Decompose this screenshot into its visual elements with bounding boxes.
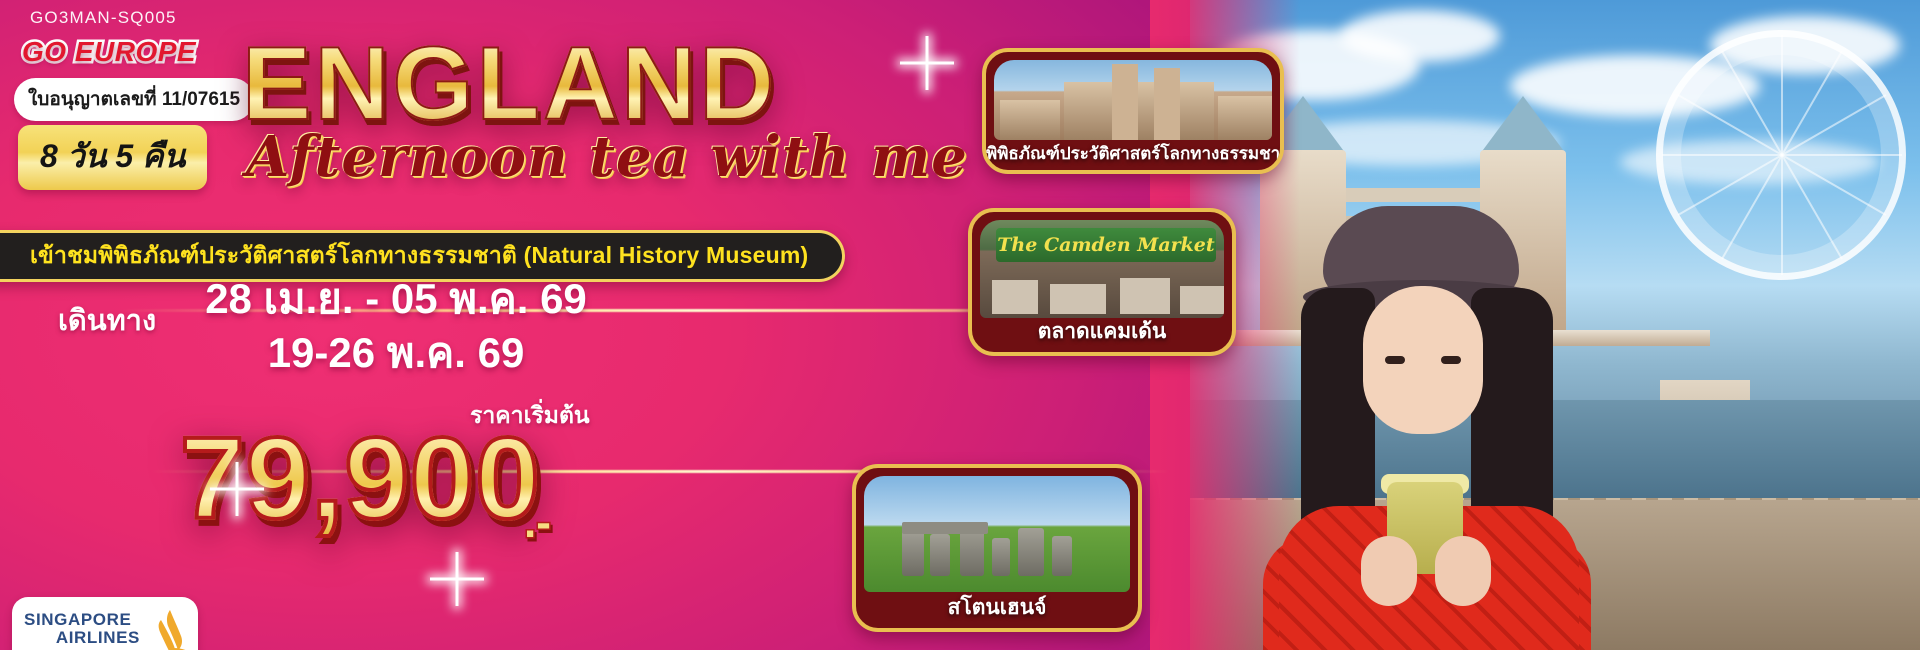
camden-sign-text: The Camden Market	[996, 228, 1216, 262]
london-eye-icon	[1656, 30, 1906, 280]
attraction-card-camden[interactable]: The Camden Market ตลาดแคมเด้น	[968, 208, 1236, 356]
hand	[1435, 536, 1491, 606]
airline-logo-text: SINGAPORE AIRLINES	[24, 611, 140, 650]
travel-label: เดินทาง	[58, 297, 156, 343]
sparkle-icon	[430, 552, 484, 606]
face	[1363, 286, 1483, 434]
camden-market-sign: The Camden Market	[996, 228, 1216, 262]
license-badge: ใบอนุญาตเลขที่ 11/07615	[14, 78, 254, 121]
hand	[1361, 536, 1417, 606]
attraction-photo: The Camden Market	[980, 220, 1224, 318]
headline-group: ENGLAND Afternoon tea with me	[238, 32, 958, 222]
duration-badge: 8 วัน 5 คืน	[18, 125, 207, 190]
model-photo	[1245, 206, 1605, 650]
travel-date: 19-26 พ.ค. 69	[186, 326, 606, 380]
travel-promo-banner: GO3MAN-SQ005 GO EUROPE ใบอนุญาตเลขที่ 11…	[0, 0, 1920, 650]
price-suffix: .-	[524, 498, 551, 548]
headline-subtitle: Afternoon tea with me	[246, 124, 968, 190]
airline-logo: SINGAPORE AIRLINES	[12, 597, 198, 650]
attraction-caption: ตลาดแคมเด้น	[972, 315, 1232, 348]
attraction-photo	[864, 476, 1130, 592]
tower-bridge-spire	[1480, 96, 1566, 154]
cloud-icon	[1340, 10, 1500, 62]
highlight-text: เข้าชมพิพิธภัณฑ์ประวัติศาสตร์โลกทางธรรมช…	[30, 238, 808, 274]
tower-bridge-span	[1346, 188, 1480, 202]
eye	[1441, 356, 1461, 364]
attraction-caption: สโตนเฮนจ์	[856, 591, 1138, 624]
attraction-photo	[994, 60, 1272, 140]
brand-logo: GO EUROPE	[22, 36, 196, 68]
eye	[1385, 356, 1405, 364]
product-code: GO3MAN-SQ005	[30, 8, 177, 28]
page-title: ENGLAND	[238, 32, 958, 136]
airline-name-line2: AIRLINES	[56, 629, 140, 647]
attraction-card-stonehenge[interactable]: สโตนเฮนจ์	[852, 464, 1142, 632]
airline-name-line1: SINGAPORE	[24, 611, 131, 629]
travel-date: 28 เม.ย. - 05 พ.ค. 69	[186, 272, 606, 326]
attraction-card-museum[interactable]: พิพิธภัณฑ์ประวัติศาสตร์โลกทางธรรมชาติ	[982, 48, 1284, 174]
attraction-caption: พิพิธภัณฑ์ประวัติศาสตร์โลกทางธรรมชาติ	[986, 140, 1280, 167]
price-amount: 79,900	[180, 420, 541, 536]
singapore-airlines-bird-icon	[148, 608, 190, 650]
travel-dates: 28 เม.ย. - 05 พ.ค. 69 19-26 พ.ค. 69	[186, 272, 606, 380]
